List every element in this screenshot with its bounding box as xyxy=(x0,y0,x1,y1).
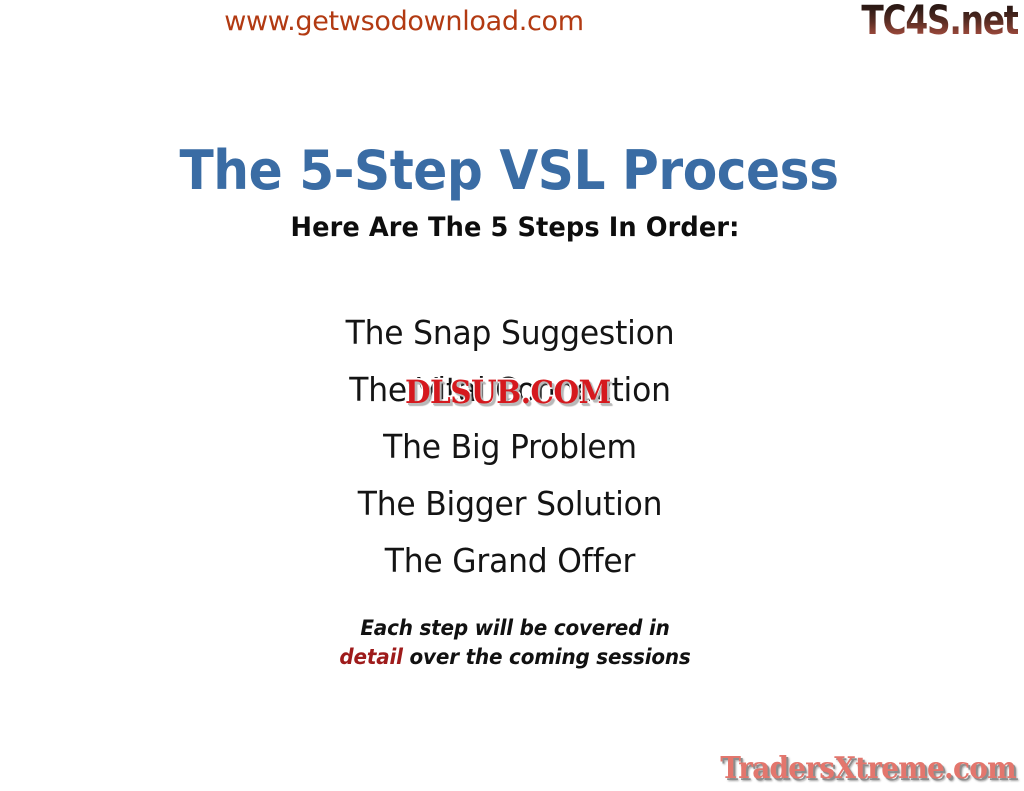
list-item: The Big Problem xyxy=(24,418,997,475)
page-title: The 5-Step VSL Process xyxy=(33,139,985,202)
page-subtitle: Here Are The 5 Steps In Order: xyxy=(29,212,1002,243)
tradersxtreme-watermark: TradersXtreme.com xyxy=(720,751,1016,786)
footer-note-accent: detail xyxy=(339,645,402,669)
slide-canvas: www.getwsodownload.com TC4S.net The 5-St… xyxy=(0,0,1024,791)
footer-note-rest: over the coming sessions xyxy=(403,645,691,669)
footer-note-line-1: Each step will be covered in xyxy=(29,614,1002,643)
list-item: The Bigger Solution xyxy=(24,475,997,532)
list-item: The Snap Suggestion xyxy=(24,304,997,361)
footer-note-line-2: detail over the coming sessions xyxy=(29,643,1002,672)
footer-note: Each step will be covered in detail over… xyxy=(29,614,1002,672)
list-item: The Grand Offer xyxy=(24,532,997,589)
list-item: The Vital Connection xyxy=(24,361,997,418)
tc4s-brand-logo: TC4S.net xyxy=(861,0,1018,44)
steps-list: The Snap Suggestion The Vital Connection… xyxy=(0,304,1022,589)
site-url-text: www.getwsodownload.com xyxy=(0,6,916,37)
